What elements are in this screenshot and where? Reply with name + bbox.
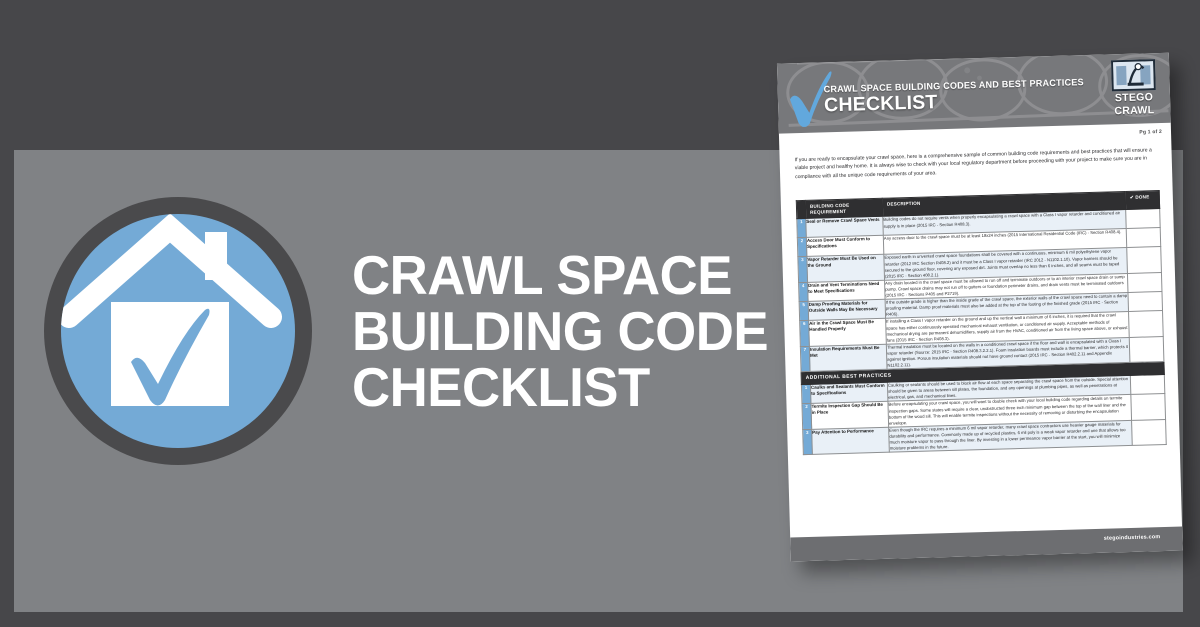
row-requirement: Termite Inspection Gap Should Be in Plac…	[811, 402, 889, 430]
headline-line-1: CRAWL SPACE	[352, 247, 768, 303]
row-done-checkbox[interactable]	[1128, 292, 1163, 312]
row-done-checkbox[interactable]	[1129, 311, 1164, 337]
house-with-checkmark-icon	[44, 197, 312, 465]
row-requirement: Caulks and Sealants Must Conform to Spec…	[810, 382, 888, 403]
document-page: CRAWL SPACE BUILDING CODES AND BEST PRAC…	[777, 53, 1183, 562]
row-requirement: Pay Attention to Performance	[812, 427, 890, 455]
house-check-glyph	[61, 214, 295, 448]
checklist-table: BUILDING CODE REQUIREMENTDESCRIPTION✔ DO…	[796, 190, 1167, 455]
row-done-checkbox[interactable]	[1127, 247, 1162, 273]
row-done-checkbox[interactable]	[1126, 209, 1161, 229]
checklist-table-body: BUILDING CODE REQUIREMENTDESCRIPTION✔ DO…	[796, 191, 1166, 455]
column-header-1: BUILDING CODE REQUIREMENT	[805, 198, 882, 219]
row-requirement: Insulation Requirements Must Be Met	[809, 344, 887, 372]
page-title: CRAWL SPACE BUILDING CODE CHECKLIST	[352, 247, 768, 415]
worker-in-crawlspace-icon	[1113, 61, 1154, 89]
row-requirement: Vapor Retarder Must Be Used on the Groun…	[807, 255, 885, 283]
row-requirement: Drain and Vent Terminations Need to Meet…	[808, 280, 886, 301]
row-requirement: Access Door Must Conform to Specificatio…	[806, 236, 884, 257]
row-done-checkbox[interactable]	[1129, 336, 1164, 362]
row-done-checkbox[interactable]	[1131, 394, 1166, 420]
checklist-document-preview[interactable]: CRAWL SPACE BUILDING CODES AND BEST PRAC…	[777, 53, 1191, 574]
row-requirement: Damp Proofing Materials for Outside Wall…	[808, 299, 886, 320]
row-description: Even though the IRC requires a minimum 6…	[889, 420, 1133, 452]
stego-logo-line-1: STEGO	[1106, 92, 1162, 104]
row-done-checkbox[interactable]	[1130, 375, 1165, 395]
headline-line-3: CHECKLIST	[352, 359, 768, 415]
row-requirement: Air in the Crawl Space Must Be Handled P…	[809, 319, 887, 347]
column-header-3: ✔ DONE	[1125, 191, 1160, 210]
document-header: CRAWL SPACE BUILDING CODES AND BEST PRAC…	[777, 53, 1171, 134]
screenshot-stage: CRAWL SPACE BUILDING CODE CHECKLIST	[0, 0, 1200, 627]
page-marker: Pg 1 of 2	[1139, 129, 1162, 136]
document-intro-paragraph: If you are ready to encapsulate your cra…	[795, 146, 1159, 181]
hero-block: CRAWL SPACE BUILDING CODE CHECKLIST	[44, 196, 784, 466]
headline-line-2: BUILDING CODE	[352, 303, 768, 359]
stego-crawl-logo: STEGO CRAWL	[1105, 59, 1163, 119]
row-requirement: Seal or Remove Crawl Space Vents	[806, 217, 884, 238]
footer-url: stegoindustries.com	[1104, 534, 1161, 542]
row-done-checkbox[interactable]	[1127, 272, 1162, 292]
stego-logo-line-2: CRAWL	[1106, 104, 1162, 116]
row-done-checkbox[interactable]	[1132, 419, 1167, 445]
row-done-checkbox[interactable]	[1126, 228, 1161, 248]
stego-logo-mark	[1111, 59, 1156, 91]
